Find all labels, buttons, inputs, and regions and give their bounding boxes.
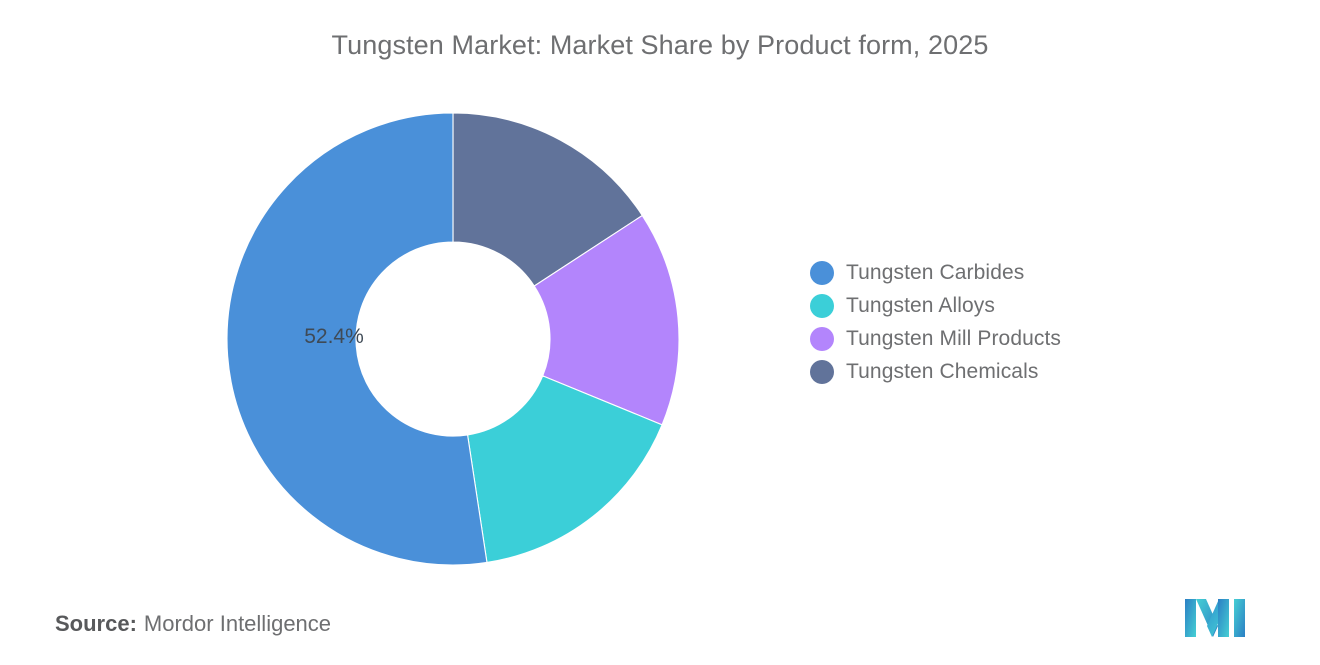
source-label: Source: bbox=[55, 611, 137, 636]
legend-swatch-icon-tungsten-mill-products bbox=[810, 327, 834, 351]
donut-slice-tungsten-carbides[interactable] bbox=[227, 113, 487, 565]
legend-item-tungsten-alloys[interactable]: Tungsten Alloys bbox=[810, 289, 1210, 322]
legend-label-tungsten-alloys: Tungsten Alloys bbox=[846, 294, 995, 318]
source-line: Source:Mordor Intelligence bbox=[55, 611, 331, 637]
legend-label-tungsten-mill-products: Tungsten Mill Products bbox=[846, 327, 1061, 351]
donut-slices bbox=[227, 113, 679, 565]
legend-label-tungsten-chemicals: Tungsten Chemicals bbox=[846, 360, 1038, 384]
legend-label-tungsten-carbides: Tungsten Carbides bbox=[846, 261, 1024, 285]
legend-item-tungsten-mill-products[interactable]: Tungsten Mill Products bbox=[810, 322, 1210, 355]
legend-swatch-icon-tungsten-chemicals bbox=[810, 360, 834, 384]
legend-swatch-icon-tungsten-carbides bbox=[810, 261, 834, 285]
donut-chart: 52.4% bbox=[227, 113, 679, 565]
legend-item-tungsten-chemicals[interactable]: Tungsten Chemicals bbox=[810, 355, 1210, 388]
source-value: Mordor Intelligence bbox=[144, 611, 331, 636]
logo-mark-svg bbox=[1185, 597, 1255, 639]
chart-legend: Tungsten Carbides Tungsten Alloys Tungst… bbox=[810, 256, 1210, 388]
page-title: Tungsten Market: Market Share by Product… bbox=[0, 30, 1320, 61]
donut-chart-svg bbox=[227, 113, 679, 565]
mordor-intelligence-logo-icon bbox=[1185, 597, 1255, 639]
legend-swatch-icon-tungsten-alloys bbox=[810, 294, 834, 318]
legend-item-tungsten-carbides[interactable]: Tungsten Carbides bbox=[810, 256, 1210, 289]
